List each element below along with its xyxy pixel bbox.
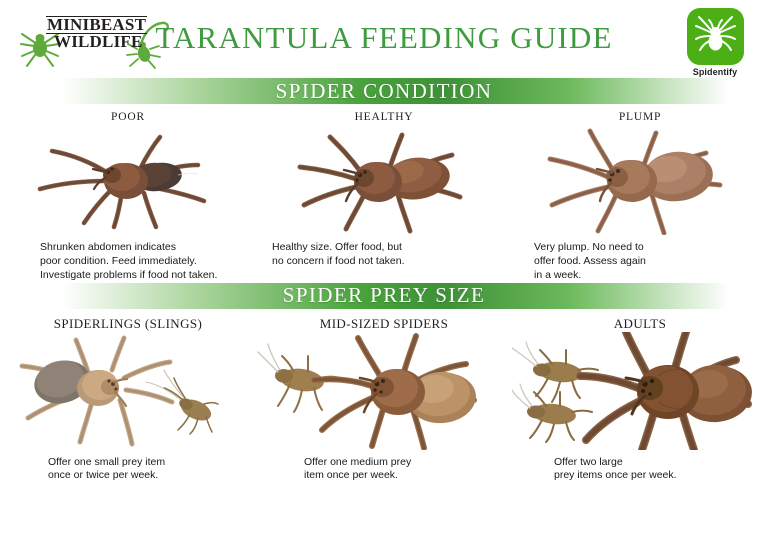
condition-caption-plump: Very plump. No need to offer food. Asses… (534, 235, 768, 283)
prey-card-spiderlings: Spiderlings (Slings) (0, 309, 256, 484)
header: MINIBEAST WILDLIFE TARANTULA FEEDING GUI… (0, 0, 768, 78)
midsize-spider-illustration (256, 332, 512, 450)
spider-prey-size-row: Spiderlings (Slings) (0, 309, 768, 484)
spider-healthy-condition-image (256, 125, 512, 235)
infographic-page: MINIBEAST WILDLIFE TARANTULA FEEDING GUI… (0, 0, 768, 543)
prey-card-adults: Adults (512, 309, 768, 484)
section-banner-label: SPIDER CONDITION (276, 81, 493, 102)
small-cricket (146, 370, 218, 434)
midsize-spider-with-medium-cricket-image (256, 332, 512, 450)
condition-label-healthy: HEALTHY (256, 104, 512, 123)
prey-label-midsized: Mid-sized spiders (256, 309, 512, 332)
condition-card-healthy: HEALTHY (256, 104, 512, 283)
large-cricket-top (512, 342, 598, 402)
section-banner-spider-condition: SPIDER CONDITION (0, 78, 768, 104)
condition-caption-healthy: Healthy size. Offer food, but no concern… (272, 235, 512, 269)
condition-card-plump: PLUMP (512, 104, 768, 283)
spider-poor-illustration (0, 125, 256, 235)
spider-healthy-illustration (256, 125, 512, 235)
large-cricket-bottom (512, 384, 592, 442)
condition-caption-poor: Shrunken abdomen indicates poor conditio… (40, 235, 256, 283)
prey-caption-adults: Offer two large prey items once per week… (554, 450, 768, 484)
spider-plump-condition-image (512, 125, 768, 235)
prey-caption-midsized: Offer one medium prey item once per week… (304, 450, 512, 484)
prey-card-midsized: Mid-sized spiders (256, 309, 512, 484)
spiderling-with-small-cricket-image (0, 332, 256, 450)
spiderling-illustration (0, 332, 256, 450)
spider-icon (687, 8, 744, 65)
condition-label-poor: POOR (0, 104, 256, 123)
condition-label-plump: PLUMP (512, 104, 768, 123)
prey-caption-spiderlings: Offer one small prey item once or twice … (48, 450, 256, 484)
spidentify-badge[interactable]: Spidentify (682, 8, 748, 77)
spidentify-app-icon[interactable] (687, 8, 744, 65)
condition-card-poor: POOR (0, 104, 256, 283)
page-title: TARANTULA FEEDING GUIDE (0, 20, 768, 56)
adult-spider-with-two-large-crickets-image (512, 332, 768, 450)
spider-poor-condition-image (0, 125, 256, 235)
prey-label-adults: Adults (512, 309, 768, 332)
spidentify-label: Spidentify (682, 67, 748, 77)
spider-plump-illustration (512, 125, 768, 235)
prey-label-spiderlings: Spiderlings (Slings) (0, 309, 256, 332)
section-banner-spider-prey-size: SPIDER PREY SIZE (0, 283, 768, 309)
section-banner-label: SPIDER PREY SIZE (283, 285, 485, 306)
adult-spider-illustration (512, 332, 768, 450)
spider-condition-row: POOR (0, 104, 768, 283)
